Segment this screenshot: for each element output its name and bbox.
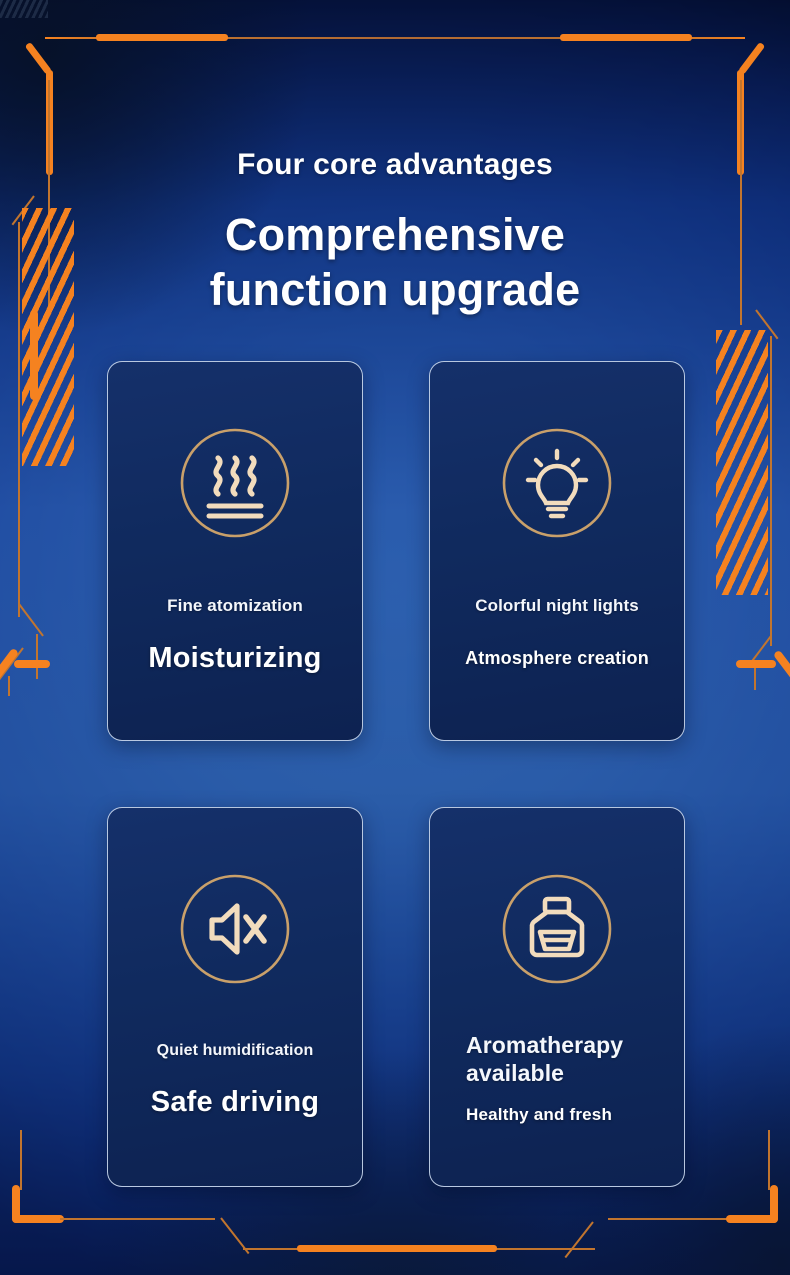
card-main-label: Healthy and fresh (444, 1105, 670, 1125)
aroma-diffuser-icon (498, 870, 616, 988)
frame-left-rail-kink-2 (18, 603, 44, 636)
feature-card-text: Colorful night lights Atmosphere creatio… (430, 542, 684, 669)
frame-bottom-right-cap-vertical (770, 1185, 778, 1223)
frame-top-line (45, 37, 745, 39)
feature-card-grid: Fine atomization Moisturizing (107, 361, 685, 1187)
card-sub-label: Colorful night lights (444, 596, 670, 616)
frame-right-lower-elbow-diagonal (773, 650, 790, 690)
feature-card-moisturizing[interactable]: Fine atomization Moisturizing (107, 361, 363, 741)
feature-card-text: Aromatherapy available Healthy and fresh (430, 988, 684, 1125)
hatch-pattern-top-right (0, 0, 48, 18)
product-feature-poster: Four core advantages Comprehensive funct… (0, 0, 790, 1275)
page-title-line-2: function upgrade (0, 263, 790, 318)
frame-bottom-line-3 (608, 1218, 758, 1220)
frame-bottom-line-1 (60, 1218, 215, 1220)
frame-bottom-left-cap-vertical (12, 1185, 20, 1223)
card-sub-label: Aromatherapy available (444, 1032, 670, 1087)
frame-left-accent-segment (30, 310, 38, 400)
frame-corner-top-left-diagonal (25, 42, 52, 75)
feature-card-night-light[interactable]: Colorful night lights Atmosphere creatio… (429, 361, 685, 741)
frame-bottom-right-cap-horizontal (726, 1215, 778, 1223)
frame-bottom-line-2 (243, 1248, 595, 1250)
card-sub-label: Quiet humidification (122, 1042, 348, 1060)
frame-right-rail-kink-2 (749, 635, 772, 665)
frame-bottom-left-thin-vertical (20, 1130, 22, 1190)
frame-left-lower-elbow-diagonal (0, 648, 19, 690)
feature-card-quiet[interactable]: Quiet humidification Safe driving (107, 807, 363, 1187)
feature-card-aromatherapy[interactable]: Aromatherapy available Healthy and fresh (429, 807, 685, 1187)
mute-speaker-icon (176, 870, 294, 988)
frame-bottom-accent-bar (297, 1245, 497, 1252)
frame-bottom-left-cap-horizontal (12, 1215, 64, 1223)
frame-top-cap-right (560, 34, 692, 41)
frame-left-lower-elbow-bar (14, 660, 50, 668)
card-main-label: Atmosphere creation (444, 648, 670, 669)
frame-right-rail-c (754, 660, 756, 690)
hatch-pattern-right (716, 330, 768, 595)
card-main-label: Moisturizing (122, 642, 348, 675)
frame-bottom-step-up (565, 1221, 594, 1258)
frame-left-rail-c (36, 634, 38, 679)
steam-icon (176, 424, 294, 542)
lightbulb-icon (498, 424, 616, 542)
feature-card-text: Quiet humidification Safe driving (108, 988, 362, 1119)
page-title: Comprehensive function upgrade (0, 208, 790, 318)
frame-right-lower-elbow-bar (736, 660, 776, 668)
feature-card-text: Fine atomization Moisturizing (108, 542, 362, 675)
card-sub-label: Fine atomization (122, 596, 348, 616)
header-block: Four core advantages Comprehensive funct… (0, 148, 790, 318)
page-title-line-1: Comprehensive (0, 208, 790, 263)
frame-bottom-step-down (220, 1217, 249, 1254)
frame-top-cap-left (96, 34, 228, 41)
frame-bottom-right-thin-vertical (768, 1130, 770, 1190)
frame-left-rail-kink-3 (0, 647, 24, 680)
card-main-label: Safe driving (122, 1086, 348, 1119)
frame-right-rail-b (770, 336, 772, 646)
frame-left-rail-d (8, 676, 10, 696)
frame-corner-top-right-diagonal (738, 42, 765, 75)
kicker-text: Four core advantages (0, 148, 790, 182)
